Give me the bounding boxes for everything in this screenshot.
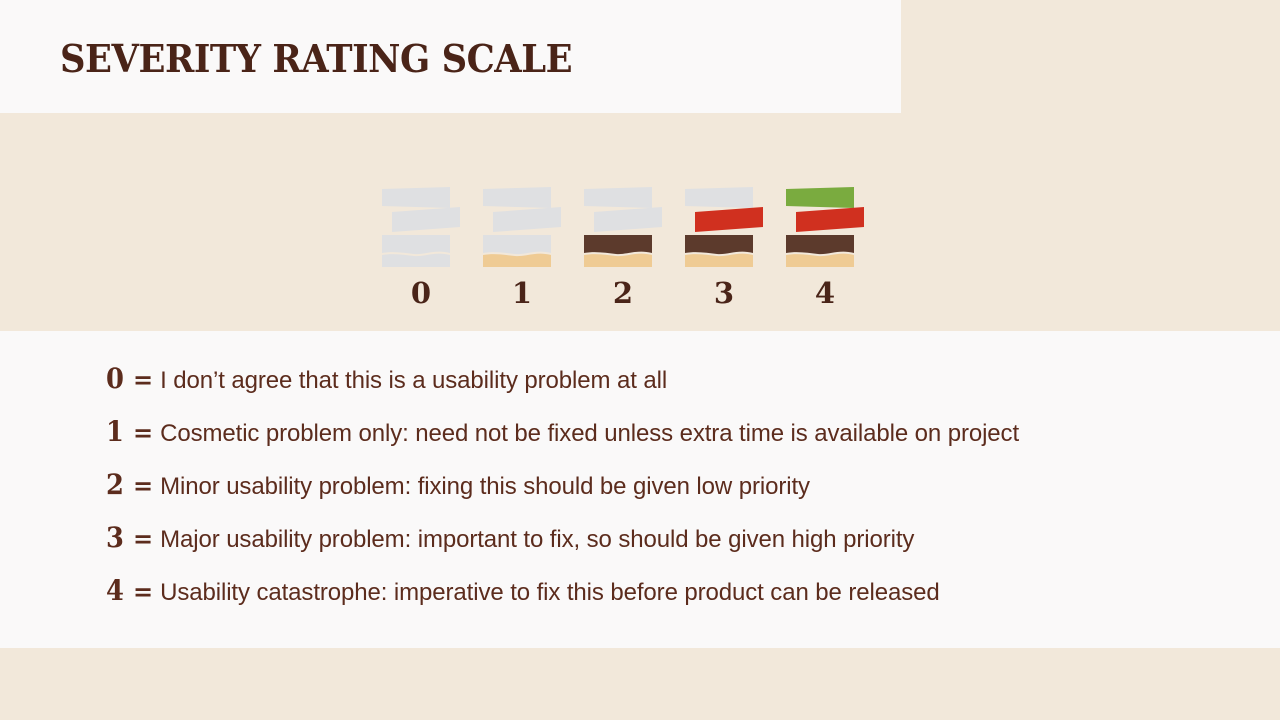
legend-equals: = xyxy=(133,365,153,394)
legend-row: 2 = Minor usability problem: fixing this… xyxy=(104,468,1224,521)
severity-graphic-label-1: 1 xyxy=(512,279,532,308)
legend-description: I don’t agree that this is a usability p… xyxy=(160,367,667,395)
layer-tomato-0 xyxy=(392,207,460,232)
severity-graphic-label-0: 0 xyxy=(411,279,431,308)
legend-row: 4 = Usability catastrophe: imperative to… xyxy=(104,574,1224,627)
layer-tomato-1 xyxy=(493,207,561,232)
layer-patty-2 xyxy=(584,235,652,254)
legend-number: 3 xyxy=(105,521,125,554)
severity-item-3: 3 xyxy=(683,185,765,308)
legend-number: 4 xyxy=(105,574,125,607)
layer-bun-4 xyxy=(786,254,854,267)
slide-canvas: SEVERITY RATING SCALE 0 xyxy=(0,0,1280,720)
legend-description: Minor usability problem: fixing this sho… xyxy=(160,473,810,501)
layer-tomato-4 xyxy=(796,207,864,232)
severity-graphic-label-3: 3 xyxy=(714,279,734,308)
page-title: SEVERITY RATING SCALE xyxy=(60,38,572,80)
layer-tomato-2 xyxy=(594,207,662,232)
layer-patty-4 xyxy=(786,235,854,254)
layer-patty-0 xyxy=(382,235,450,254)
legend-equals: = xyxy=(133,418,153,447)
sandwich-icon-0 xyxy=(380,185,462,267)
layer-lettuce-4 xyxy=(786,187,854,208)
bottom-beige-band xyxy=(0,648,1280,720)
legend-row: 1 = Cosmetic problem only: need not be f… xyxy=(104,415,1224,468)
layer-bun-1 xyxy=(483,254,551,267)
legend-equals: = xyxy=(133,577,153,606)
legend-number: 2 xyxy=(105,468,125,501)
legend-row: 0 = I don’t agree that this is a usabili… xyxy=(104,362,1224,415)
severity-legend-list: 0 = I don’t agree that this is a usabili… xyxy=(104,362,1224,627)
layer-bun-2 xyxy=(584,254,652,267)
legend-equals: = xyxy=(133,524,153,553)
layer-patty-1 xyxy=(483,235,551,254)
severity-item-2: 2 xyxy=(582,185,664,308)
severity-graphic-label-2: 2 xyxy=(613,279,633,308)
layer-bun-0 xyxy=(382,254,450,267)
severity-item-4: 4 xyxy=(784,185,866,308)
layer-patty-3 xyxy=(685,235,753,254)
severity-graphic-label-4: 4 xyxy=(815,279,835,308)
sandwich-icon-3 xyxy=(683,185,765,267)
legend-equals: = xyxy=(133,471,153,500)
sandwich-icon-4 xyxy=(784,185,866,267)
layer-lettuce-2 xyxy=(584,187,652,208)
severity-item-1: 1 xyxy=(481,185,563,308)
sandwich-icon-1 xyxy=(481,185,563,267)
severity-item-0: 0 xyxy=(380,185,462,308)
legend-description: Major usability problem: important to fi… xyxy=(160,526,914,554)
legend-description: Usability catastrophe: imperative to fix… xyxy=(160,579,939,607)
legend-description: Cosmetic problem only: need not be fixed… xyxy=(160,420,1019,448)
layer-lettuce-0 xyxy=(382,187,450,208)
layer-lettuce-1 xyxy=(483,187,551,208)
legend-number: 1 xyxy=(105,415,125,448)
layer-lettuce-3 xyxy=(685,187,753,208)
layer-tomato-3 xyxy=(695,207,763,232)
legend-row: 3 = Major usability problem: important t… xyxy=(104,521,1224,574)
layer-bun-3 xyxy=(685,254,753,267)
legend-number: 0 xyxy=(105,362,125,395)
severity-graphic-row: 0 1 xyxy=(380,185,866,308)
sandwich-icon-2 xyxy=(582,185,664,267)
